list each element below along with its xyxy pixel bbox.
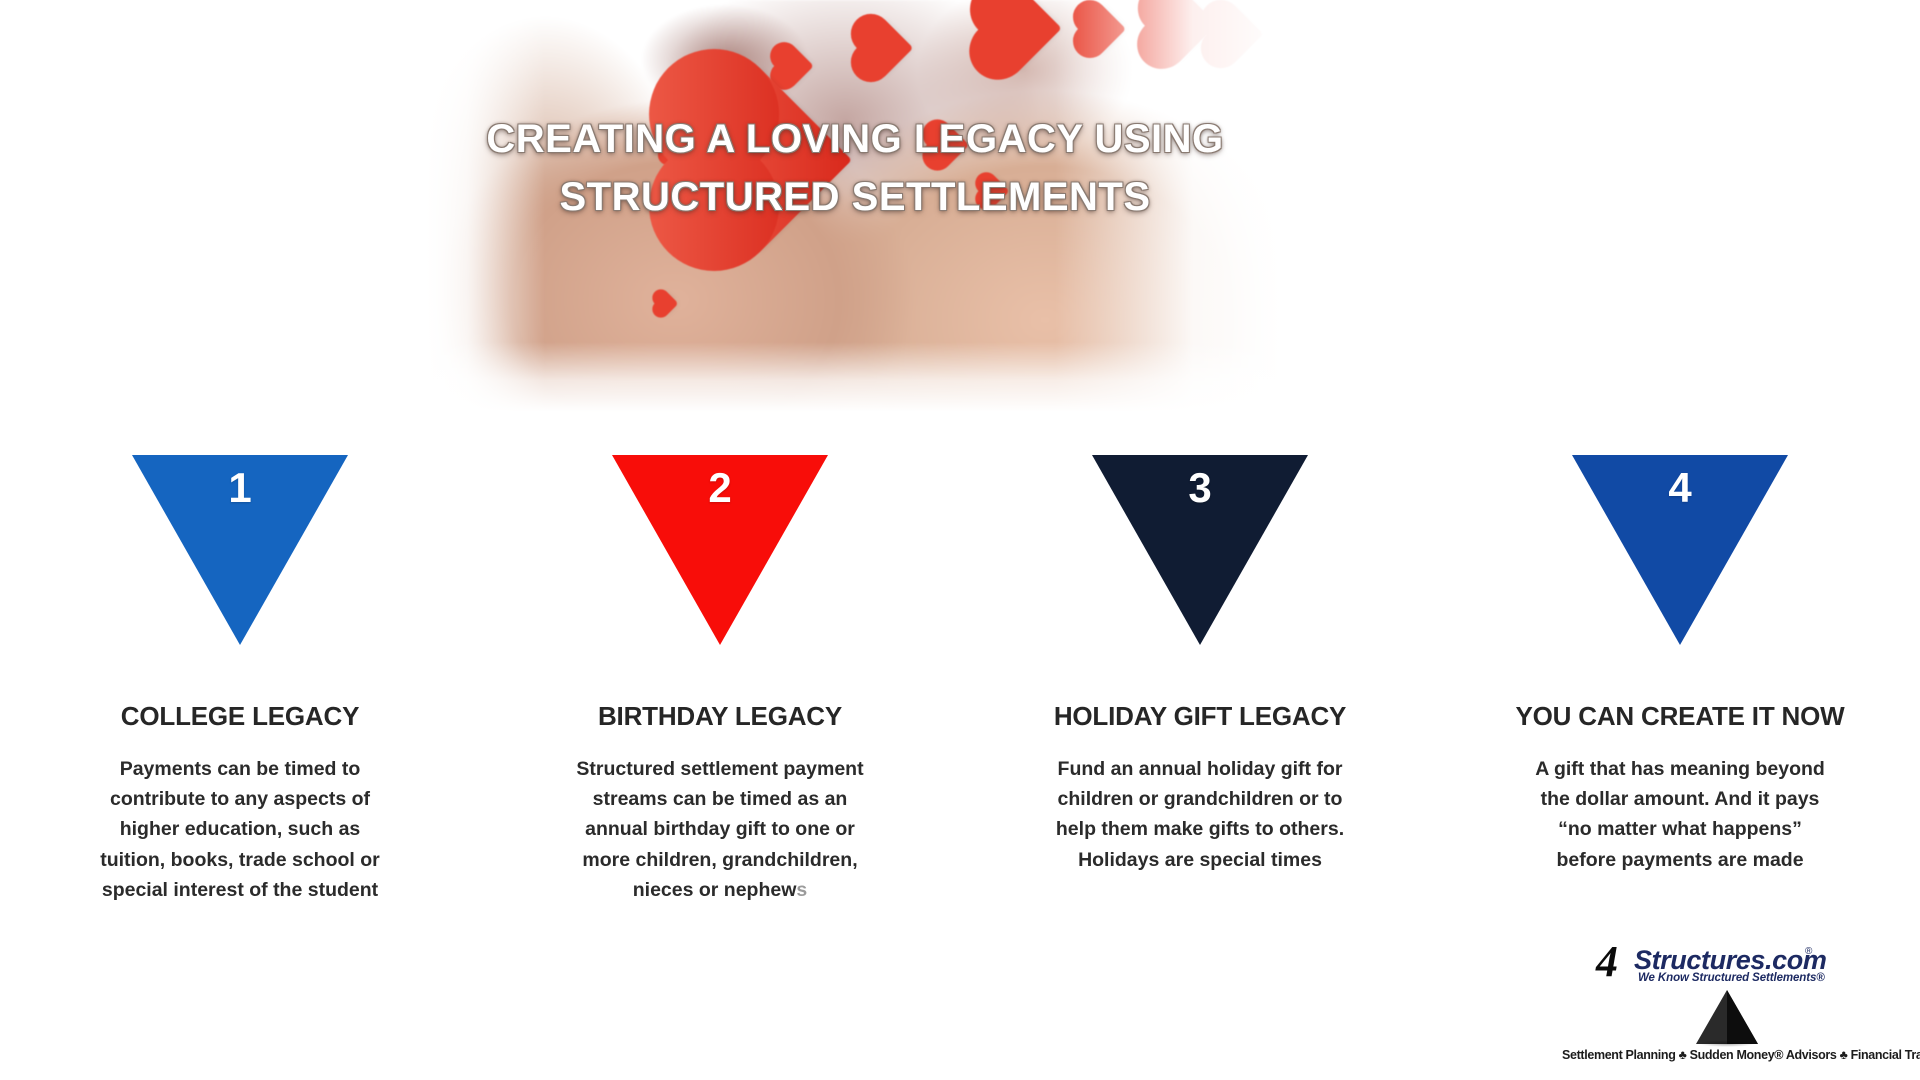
column-body-tail-2: s [796, 879, 807, 901]
page-title: CREATING A LOVING LEGACY USING STRUCTURE… [425, 110, 1285, 226]
step-marker-4: 4 [1440, 455, 1920, 655]
column-birthday-legacy: 2 BIRTHDAY LEGACY Structured settlement … [480, 455, 960, 975]
page-title-line-1: CREATING A LOVING LEGACY USING [425, 110, 1285, 168]
logo-numeral-four: 4 [1596, 940, 1618, 984]
column-body-text-3: Fund an annual holiday gift for children… [1056, 758, 1344, 871]
step-marker-3: 3 [960, 455, 1440, 655]
column-create-it-now: 4 YOU CAN CREATE IT NOW A gift that has … [1440, 455, 1920, 975]
column-body-4: A gift that has meaning beyond the dolla… [1527, 754, 1833, 875]
column-body-text-2: Structured settlement payment streams ca… [576, 758, 863, 901]
page-title-line-2: STRUCTURED SETTLEMENTS [425, 168, 1285, 226]
step-number-2: 2 [700, 467, 740, 509]
logo-wordmark: 4 Structures.com ® We Know Structured Se… [1562, 944, 1892, 986]
logo-services-line: Settlement Planning ♣ Sudden Money® Advi… [1562, 1048, 1892, 1062]
step-marker-1: 1 [0, 455, 480, 655]
registered-trademark-icon: ® [1805, 946, 1812, 957]
column-body-2: Structured settlement payment streams ca… [570, 754, 870, 905]
logo-tagline: We Know Structured Settlements® [1638, 972, 1825, 984]
triangle-4: 4 [1572, 455, 1788, 645]
triangle-1: 1 [132, 455, 348, 645]
pyramid-icon [1696, 990, 1758, 1044]
step-marker-2: 2 [480, 455, 960, 655]
step-number-3: 3 [1180, 467, 1220, 509]
pyramid-shadow [1698, 1040, 1756, 1047]
pyramid-right-face [1727, 990, 1758, 1044]
legacy-columns: 1 COLLEGE LEGACY Payments can be timed t… [0, 455, 1920, 975]
column-heading-1: COLLEGE LEGACY [121, 701, 359, 732]
step-number-4: 4 [1660, 467, 1700, 509]
column-holiday-gift-legacy: 3 HOLIDAY GIFT LEGACY Fund an annual hol… [960, 455, 1440, 975]
triangle-3: 3 [1092, 455, 1308, 645]
column-college-legacy: 1 COLLEGE LEGACY Payments can be timed t… [0, 455, 480, 975]
hero-bottom-fade [425, 342, 1285, 412]
column-heading-3: HOLIDAY GIFT LEGACY [1054, 701, 1346, 732]
column-body-text-4: A gift that has meaning beyond the dolla… [1535, 758, 1825, 871]
column-heading-4: YOU CAN CREATE IT NOW [1516, 701, 1845, 732]
column-heading-2: BIRTHDAY LEGACY [598, 701, 842, 732]
brand-logo[interactable]: 4 Structures.com ® We Know Structured Se… [1562, 944, 1892, 1062]
column-body-1: Payments can be timed to contribute to a… [90, 754, 390, 905]
column-body-3: Fund an annual holiday gift for children… [1044, 754, 1356, 875]
logo-brand-name: Structures.com [1634, 947, 1826, 974]
column-body-text-1: Payments can be timed to contribute to a… [100, 758, 380, 901]
triangle-2: 2 [612, 455, 828, 645]
step-number-1: 1 [220, 467, 260, 509]
